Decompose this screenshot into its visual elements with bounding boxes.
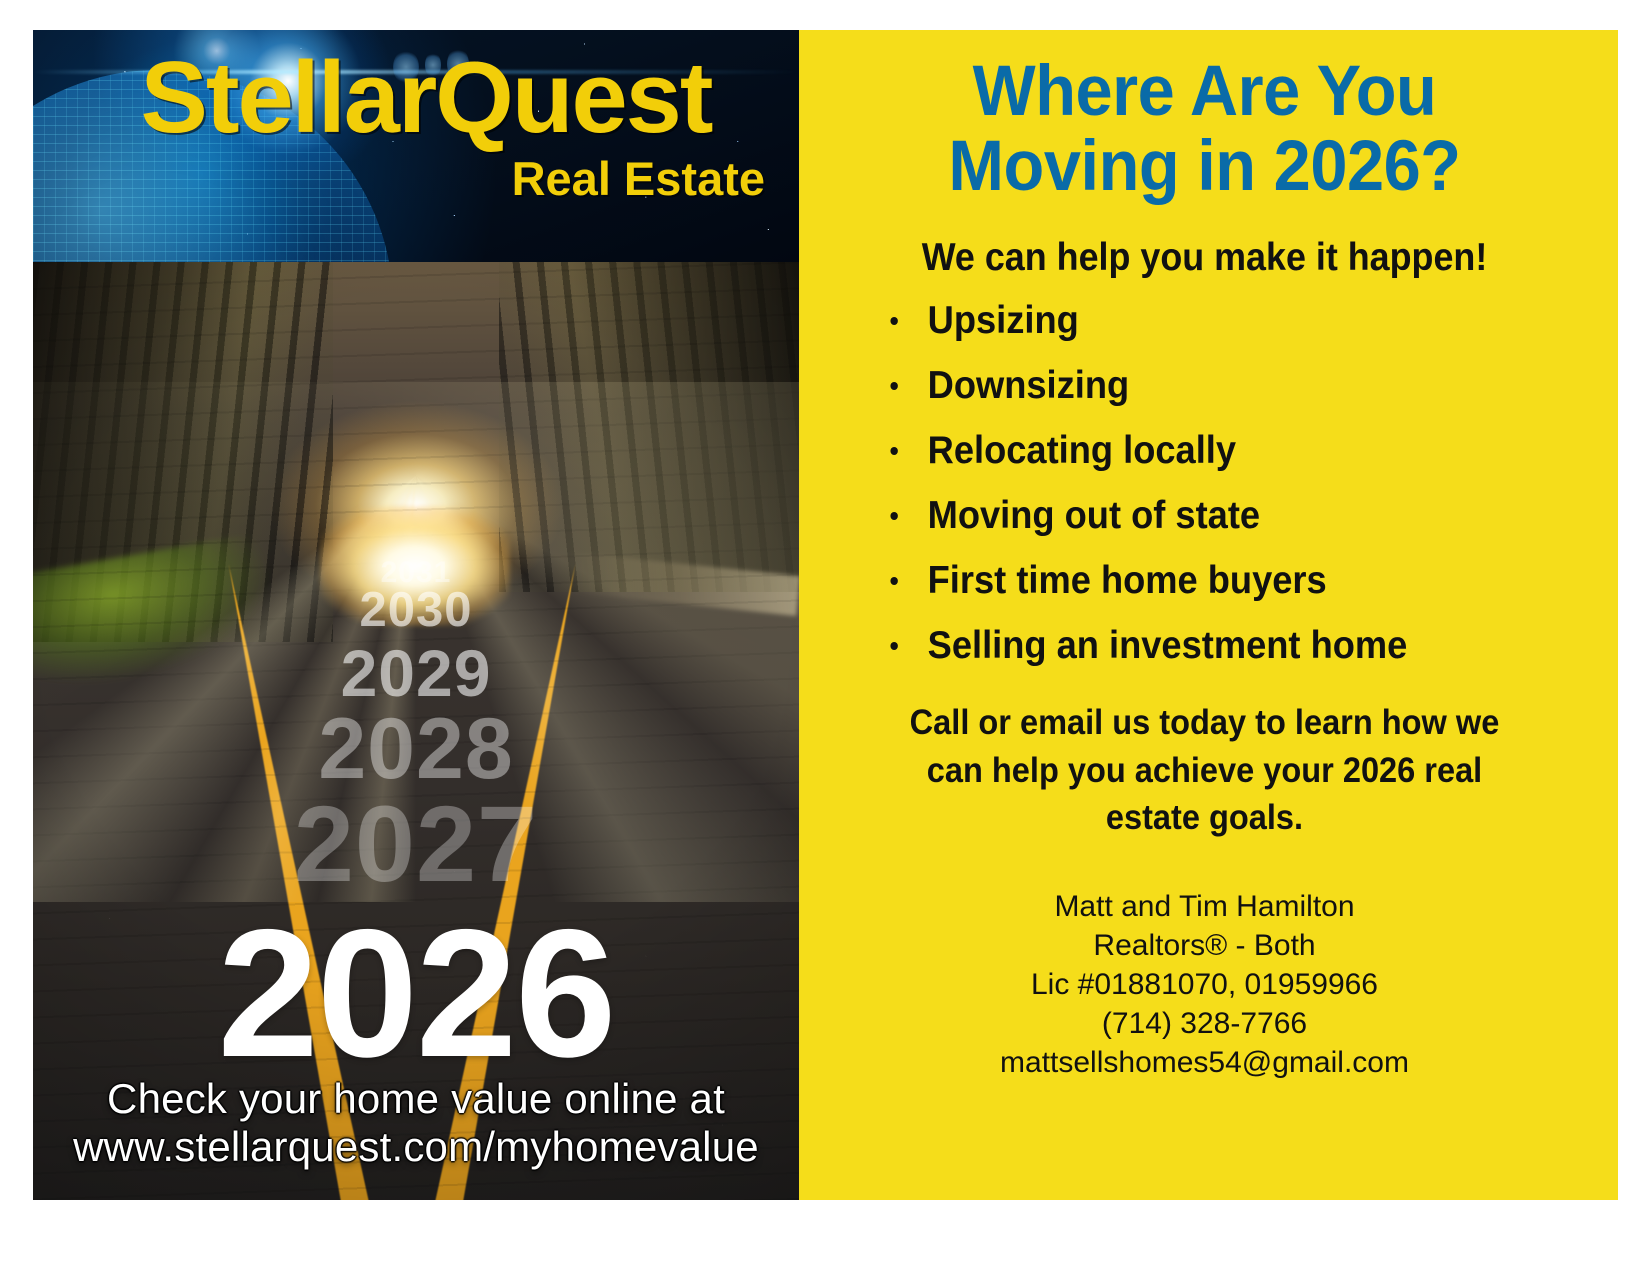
phone-number[interactable]: (714) 328-7766 [825, 1004, 1584, 1043]
list-item: Relocating locally [883, 431, 1535, 470]
list-item: Upsizing [883, 301, 1535, 340]
cta-line-1: Call or email us today to learn how we [865, 699, 1545, 746]
cta-line-3: estate goals. [865, 794, 1545, 841]
brand-logo-banner: StellarQuest Real Estate [33, 30, 799, 262]
cta-line-2: can help you achieve your 2026 real [865, 747, 1545, 794]
headline-line-1: Where Are You [848, 54, 1561, 129]
flyer-card: StellarQuest Real Estate 2031 2030 2029 … [33, 30, 1618, 1200]
call-to-action-text: Call or email us today to learn how we c… [852, 699, 1558, 841]
home-value-caption-line1: Check your home value online at [107, 1075, 725, 1122]
road-year-2029: 2029 [33, 640, 799, 706]
home-value-url[interactable]: www.stellarquest.com/myhomevalue [33, 1123, 799, 1172]
benefits-list: Upsizing Downsizing Relocating locally M… [825, 301, 1584, 665]
list-item: Moving out of state [883, 496, 1535, 535]
brand-name: StellarQuest [53, 48, 799, 149]
list-item: Downsizing [883, 366, 1535, 405]
road-year-2030: 2030 [33, 586, 799, 635]
list-item: Selling an investment home [883, 626, 1535, 665]
subheadline: We can help you make it happen! [855, 237, 1553, 280]
road-sunrise-photo: 2031 2030 2029 2028 2027 2026 Check your… [33, 262, 799, 1200]
agent-names: Matt and Tim Hamilton [825, 887, 1584, 926]
list-item: First time home buyers [883, 561, 1535, 600]
home-value-caption: Check your home value online at www.stel… [33, 1075, 799, 1172]
license-numbers: Lic #01881070, 01959966 [825, 965, 1584, 1004]
road-year-2028: 2028 [33, 706, 799, 792]
road-year-2027: 2027 [33, 790, 799, 898]
right-content-column: Where Are You Moving in 2026? We can hel… [799, 30, 1618, 1200]
brand-wordmark: StellarQuest Real Estate [33, 48, 799, 202]
agent-title: Realtors® - Both [825, 926, 1584, 965]
contact-block: Matt and Tim Hamilton Realtors® - Both L… [825, 887, 1584, 1082]
email-address[interactable]: mattsellshomes54@gmail.com [825, 1043, 1584, 1082]
headline-line-2: Moving in 2026? [848, 129, 1561, 204]
left-image-column: StellarQuest Real Estate 2031 2030 2029 … [33, 30, 799, 1200]
road-year-2026: 2026 [33, 902, 799, 1084]
page-title: Where Are You Moving in 2026? [848, 54, 1561, 205]
brand-tagline: Real Estate [53, 155, 799, 202]
trees-right-decor [499, 262, 799, 592]
